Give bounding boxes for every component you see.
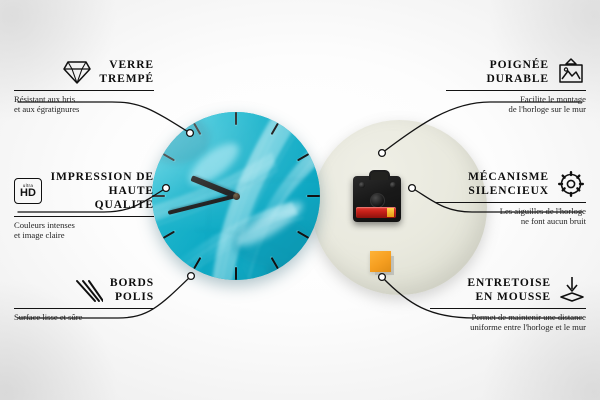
feature-verre-trempe: VERRE TREMPÉ Résistant aux bris et aux é… bbox=[14, 58, 154, 115]
feature-divider bbox=[14, 90, 154, 91]
feature-divider bbox=[14, 308, 154, 309]
feature-title: VERRE TREMPÉ bbox=[99, 58, 154, 86]
mechanism-screw bbox=[390, 182, 396, 188]
feature-title: ENTRETOISE EN MOUSSE bbox=[430, 276, 551, 304]
foam-spacer bbox=[370, 251, 391, 272]
polished-edges-icon bbox=[73, 277, 103, 303]
clock-hands-cap bbox=[233, 193, 240, 200]
feature-title: MÉCANISME SILENCIEUX bbox=[436, 170, 549, 198]
feature-divider bbox=[446, 90, 586, 91]
clock-front-face bbox=[152, 112, 320, 280]
clock-mechanism bbox=[353, 176, 401, 222]
feature-poignee-durable: POIGNÉE DURABLE Facilite le montage de l… bbox=[446, 58, 586, 115]
hour-marker-12 bbox=[235, 112, 237, 196]
hour-marker-6 bbox=[235, 196, 237, 280]
diamond-icon bbox=[62, 59, 92, 85]
ultra-hd-icon-main-label: HD bbox=[20, 188, 36, 199]
foam-spacer-icon bbox=[558, 276, 586, 304]
feature-mecanisme-silencieux: MÉCANISME SILENCIEUX bbox=[436, 170, 586, 227]
gear-icon bbox=[556, 170, 586, 198]
hour-marker-3 bbox=[236, 195, 320, 197]
feature-description: Les aiguilles de l'horloge ne font aucun… bbox=[436, 206, 586, 227]
battery-positive-terminal bbox=[387, 208, 394, 217]
feature-title: BORDS POLIS bbox=[110, 276, 154, 304]
feature-description: Permet de maintenir une distance uniform… bbox=[430, 312, 586, 333]
clock-battery bbox=[356, 207, 396, 218]
feature-entretoise-en-mousse: ENTRETOISE EN MOUSSE Permet de maintenir… bbox=[430, 276, 586, 333]
feature-description: Résistant aux bris et aux égratignures bbox=[14, 94, 154, 115]
hanging-frame-icon bbox=[556, 58, 586, 86]
feature-description: Surface lisse et sûre bbox=[14, 312, 154, 322]
feature-bords-polis: BORDS POLIS Surface lisse et sûre bbox=[14, 276, 154, 322]
ultra-hd-icon: ultra HD bbox=[14, 178, 42, 204]
mechanism-dial bbox=[370, 193, 385, 208]
feature-description: Facilite le montage de l'horloge sur le … bbox=[446, 94, 586, 115]
feature-divider bbox=[430, 308, 586, 309]
product-infographic: VERRE TREMPÉ Résistant aux bris et aux é… bbox=[0, 0, 600, 400]
feature-title: POIGNÉE DURABLE bbox=[446, 58, 549, 86]
feature-impression-haute-qualite: ultra HD IMPRESSION DE HAUTE QUALITÉ Cou… bbox=[14, 170, 154, 241]
feature-divider bbox=[14, 216, 154, 217]
feature-divider bbox=[436, 202, 586, 203]
mechanism-screw bbox=[359, 182, 365, 188]
mechanism-hanger-tab bbox=[369, 170, 390, 180]
feature-description: Couleurs intenses et image claire bbox=[14, 220, 154, 241]
feature-title: IMPRESSION DE HAUTE QUALITÉ bbox=[49, 170, 154, 212]
